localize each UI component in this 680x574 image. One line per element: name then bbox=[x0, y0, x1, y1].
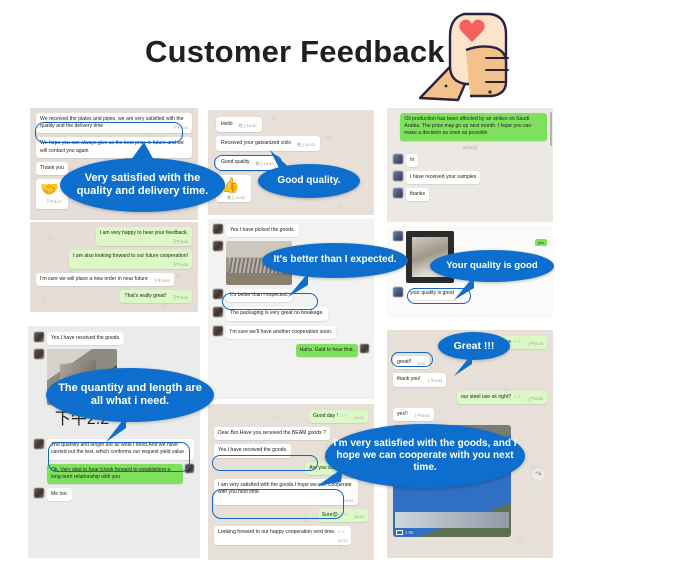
panel-chat-oil-production: Oil production has been affected by air … bbox=[387, 108, 553, 222]
callout-tail bbox=[286, 273, 312, 297]
bubble-text: The packaging is very great no breakage. bbox=[230, 310, 324, 316]
bubble-text: Yes.I have picked the goods. bbox=[230, 227, 295, 233]
bubble-text: hi bbox=[410, 157, 414, 163]
thumbs-up-with-heart-icon bbox=[412, 6, 522, 106]
chat-row: I'm sure we'll have another cooperation … bbox=[213, 326, 369, 339]
chat-bubble[interactable]: Yes.I have received the goods. bbox=[214, 444, 291, 457]
bubble-text: I'm sure we'll have another cooperation … bbox=[230, 329, 332, 335]
avatar bbox=[393, 231, 403, 241]
bubble-time: 下午3:09 bbox=[172, 295, 188, 301]
avatar bbox=[360, 344, 369, 353]
chat-row: Oil production has been affected by air … bbox=[393, 113, 547, 141]
avatar bbox=[34, 349, 44, 359]
bubble-time: 下午3:08 bbox=[79, 262, 188, 268]
bubble-time: 上午8:55 bbox=[527, 341, 543, 347]
callout-tail bbox=[452, 354, 476, 376]
bubble-time: 晚上10:42 bbox=[297, 142, 315, 148]
callout-very-satisfied-cooperate: I'm very satisfied with the goods, and i… bbox=[325, 424, 525, 488]
bubble-time: 上午8:56 bbox=[527, 396, 543, 402]
chat-bubble[interactable]: Yes.I have picked the goods. bbox=[226, 224, 299, 237]
chat-bubble[interactable]: The packaging is very great no breakage. bbox=[226, 307, 328, 320]
chat-bubble[interactable]: It's better than i expected. bbox=[226, 289, 292, 302]
chat-row: We received the plates and pipes, we are… bbox=[36, 113, 192, 133]
bubble-text: great!! bbox=[397, 359, 411, 365]
chat-bubble[interactable]: Me too. bbox=[47, 488, 72, 501]
chat-row: Yes.I have received the goods. bbox=[34, 332, 194, 345]
chat-bubble[interactable]: Ok. Very glad to hear it.look forward to… bbox=[47, 464, 183, 484]
avatar bbox=[393, 287, 403, 297]
bubble-text: Yes.I have received the goods. bbox=[218, 447, 287, 453]
bubble-text: The quantity and length are all what i n… bbox=[51, 442, 187, 455]
scrollbar[interactable] bbox=[550, 112, 552, 146]
bubble-text: I have received your samples bbox=[410, 174, 476, 180]
callout-great: Great !!! bbox=[438, 332, 510, 360]
bubble-text: I am very happy to hear your feedback. bbox=[100, 230, 188, 236]
avatar bbox=[213, 289, 223, 299]
bubble-text: our steel use ok right? bbox=[461, 394, 511, 400]
callout-better-than-expected: It's better than I expected. bbox=[262, 243, 408, 278]
bubble-text: It's better than i expected. bbox=[230, 292, 288, 298]
bubble-time: 10:10 bbox=[337, 538, 347, 544]
bubble-time: 上午8:56 bbox=[414, 413, 430, 419]
callout-tail bbox=[452, 276, 478, 300]
bubble-text: Oil production has been affected by air … bbox=[404, 116, 531, 136]
chat-row: Ok. Very glad to hear it.look forward to… bbox=[34, 464, 194, 484]
chat-row: I am also looking forward to our future … bbox=[36, 250, 192, 269]
forward-icon[interactable]: ↷ bbox=[532, 468, 545, 481]
chat-bubble[interactable]: Dear Bro.Have you received the BEAM good… bbox=[214, 427, 330, 440]
bubble-time: 8:55 bbox=[417, 361, 425, 367]
read-receipt-icon: ✓✓ bbox=[514, 339, 522, 344]
avatar bbox=[393, 154, 403, 164]
bubble-time: 下午3:08 bbox=[106, 239, 188, 245]
chat-row: I am very happy to hear your feedback. 下… bbox=[36, 227, 192, 246]
bubble-time: 10:10 bbox=[354, 514, 364, 520]
callout-your-quality-is-good: Your quality is good bbox=[430, 250, 554, 282]
read-receipt-icon: ✓✓ bbox=[340, 512, 348, 517]
chat-row: The packaging is very great no breakage. bbox=[213, 307, 369, 320]
bubble-text: Haha. Gald to hear that. bbox=[300, 347, 354, 353]
chat-row: That's really great! 下午3:09 bbox=[36, 290, 192, 303]
avatar bbox=[34, 439, 44, 449]
chat-row: Yes.I have picked the goods. bbox=[213, 224, 369, 237]
chat-bubble[interactable]: Haha. Gald to hear that. bbox=[296, 344, 358, 357]
panel-chat-received-goods-quantity: Yes.I have received the goods. 下午2:2 The… bbox=[28, 326, 200, 558]
bubble-text: yes!! bbox=[397, 411, 408, 417]
chat-bubble[interactable]: We received the plates and pipes, we are… bbox=[36, 113, 192, 133]
bubble-time: 晚上10:42 bbox=[239, 123, 257, 129]
avatar bbox=[185, 464, 194, 473]
avatar bbox=[393, 188, 403, 198]
chat-row: The quantity and length are all what i n… bbox=[34, 439, 194, 459]
date-separator: 9月20日 bbox=[393, 145, 547, 151]
read-receipt-icon: ✓✓ bbox=[340, 413, 348, 418]
chat-bubble[interactable]: your quality is good bbox=[406, 287, 458, 300]
avatar bbox=[34, 488, 44, 498]
bubble-text: We received the plates and pipes, we are… bbox=[40, 116, 183, 129]
chat-row: hi bbox=[393, 154, 547, 167]
avatar bbox=[213, 326, 223, 336]
chat-bubble[interactable]: That's really great! 下午3:09 bbox=[120, 290, 192, 303]
bubble-text: Yes.I have received the goods. bbox=[51, 335, 120, 341]
chat-row: I have received your samples bbox=[393, 171, 547, 184]
chat-row: thanks bbox=[393, 188, 547, 201]
callout-good-quality: Good quality. bbox=[258, 164, 360, 198]
callout-tail bbox=[126, 142, 160, 164]
chat-bubble[interactable]: I have received your samples bbox=[406, 171, 480, 184]
read-receipt-icon: ✓✓ bbox=[338, 529, 346, 534]
panel-chat-beam-goods: Good day ! 10:07 ✓✓ Dear Bro.Have you re… bbox=[208, 404, 374, 560]
bubble-text: Looking forward to our happy cooperation… bbox=[218, 529, 336, 535]
chat-row: Sure😊 10:10 ✓✓ bbox=[214, 509, 368, 522]
callout-quantity-and-length: The quantity and length are all what i n… bbox=[46, 368, 214, 422]
handshake-emoji: 🤝 bbox=[40, 182, 62, 197]
callout-tail bbox=[100, 416, 130, 442]
chat-bubble[interactable]: Oil production has been affected by air … bbox=[400, 113, 547, 141]
bubble-text: Ok. Very glad to hear it.look forward to… bbox=[51, 467, 170, 480]
bubble-text: Hello bbox=[221, 121, 233, 127]
bubble-time: 下午3:04 bbox=[172, 125, 188, 131]
chat-row: Looking forward to our happy cooperation… bbox=[214, 526, 368, 545]
chat-bubble[interactable]: yes!! 上午8:56 bbox=[393, 408, 434, 421]
bubble-time: 晚上10:42 bbox=[227, 195, 245, 201]
page-title: Customer Feedback bbox=[145, 34, 445, 70]
chat-bubble[interactable]: We hope you can always give us the best … bbox=[36, 137, 192, 157]
chat-bubble[interactable]: hi bbox=[406, 154, 418, 167]
avatar bbox=[213, 241, 223, 251]
panel-chat-feedback-reply: I am very happy to hear your feedback. 下… bbox=[30, 222, 198, 312]
chat-bubble[interactable]: great!! 8:55 bbox=[393, 356, 429, 369]
bubble-text: We hope you can always give us the best … bbox=[40, 140, 184, 153]
chat-bubble[interactable]: thanks bbox=[406, 188, 429, 201]
chat-row: Haha. Gald to hear that. bbox=[213, 344, 369, 357]
chat-bubble[interactable]: Good day ! 10:07 ✓✓ bbox=[309, 410, 368, 423]
bubble-text: Thank you bbox=[40, 165, 64, 171]
bubble-text: I am also looking forward to our future … bbox=[73, 253, 188, 259]
chat-bubble[interactable]: our steel use ok right? 上午8:56 ✓✓ bbox=[457, 391, 547, 404]
chat-bubble[interactable]: Looking forward to our happy cooperation… bbox=[214, 526, 351, 545]
chat-row: I'm sure we will place a new order in ne… bbox=[36, 273, 192, 286]
bubble-text: your quality is good bbox=[410, 290, 454, 296]
bubble-text: thank you! bbox=[397, 376, 421, 382]
avatar bbox=[34, 332, 44, 342]
chat-bubble[interactable]: I am very happy to hear your feedback. 下… bbox=[96, 227, 192, 246]
chat-bubble[interactable]: Hello 晚上10:42 bbox=[216, 117, 262, 132]
camera-icon bbox=[396, 530, 403, 536]
bubble-time: 10:09 bbox=[224, 498, 354, 504]
chat-row: We hope you can always give us the best … bbox=[36, 137, 192, 157]
bubble-text: Sure😊 bbox=[322, 512, 338, 518]
chat-row: Hello 晚上10:42 bbox=[216, 117, 366, 132]
chat-bubble[interactable]: Thank you bbox=[36, 162, 68, 175]
bubble-text: Dear Bro.Have you received the BEAM good… bbox=[218, 430, 326, 436]
bubble-text: Received your galvanized coils bbox=[221, 140, 291, 146]
chat-bubble[interactable]: Sure😊 10:10 ✓✓ bbox=[318, 509, 368, 522]
chat-bubble[interactable]: I'm sure we'll have another cooperation … bbox=[226, 326, 336, 339]
yes-tag: yes bbox=[535, 239, 547, 246]
bubble-text: Me too. bbox=[51, 491, 68, 497]
chat-row: our steel use ok right? 上午8:56 ✓✓ bbox=[393, 391, 547, 404]
bubble-text: I'm sure we will place a new order in ne… bbox=[40, 276, 148, 282]
chat-bubble[interactable]: The quantity and length are all what i n… bbox=[47, 439, 194, 459]
avatar bbox=[213, 224, 223, 234]
chat-bubble[interactable]: I am also looking forward to our future … bbox=[69, 250, 192, 269]
chat-bubble[interactable]: I'm sure we will place a new order in ne… bbox=[36, 273, 174, 286]
callout-very-satisfied: Very satisfied with the quality and deli… bbox=[60, 158, 225, 212]
bubble-time: 下午3:07 bbox=[46, 199, 62, 205]
bubble-time: 下午3:09 bbox=[154, 278, 170, 284]
chat-bubble[interactable]: thank you! 上午8:55 bbox=[393, 373, 446, 386]
bubble-text: Good quality bbox=[221, 159, 250, 165]
video-duration: 1:06 bbox=[396, 530, 414, 536]
callout-tail bbox=[266, 150, 296, 170]
chat-row: yes!! 上午8:56 bbox=[393, 408, 547, 421]
page-header: Customer Feedback bbox=[0, 0, 680, 98]
avatar bbox=[393, 171, 403, 181]
chat-row: Good day ! 10:07 ✓✓ bbox=[214, 410, 368, 423]
bubble-text: thanks bbox=[410, 191, 425, 197]
avatar bbox=[213, 307, 223, 317]
bubble-time: 上午8:55 bbox=[427, 378, 443, 384]
chat-bubble[interactable]: Yes.I have received the goods. bbox=[47, 332, 124, 345]
read-receipt-icon: ✓✓ bbox=[514, 394, 522, 399]
chat-row: Me too. bbox=[34, 488, 194, 501]
bubble-text: Good day ! bbox=[313, 413, 338, 419]
callout-tail bbox=[317, 466, 345, 488]
bubble-time: 10:07 bbox=[354, 415, 364, 421]
bubble-text: That's really great! bbox=[124, 293, 166, 299]
